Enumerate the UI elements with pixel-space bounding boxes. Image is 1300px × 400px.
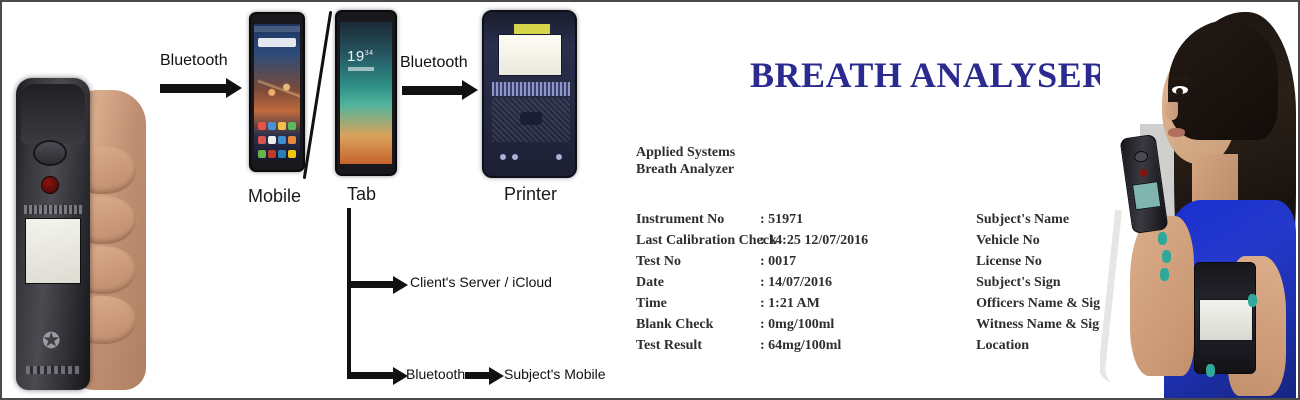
printer-power-led bbox=[556, 154, 562, 160]
field-label: Witness Name & Sign bbox=[976, 314, 1108, 335]
pupil bbox=[1176, 88, 1183, 95]
branch-arrow-bluetooth bbox=[347, 372, 395, 379]
tablet-wallpaper bbox=[340, 22, 392, 164]
field-label: Location bbox=[976, 335, 1108, 356]
report-row: Test Result : 64mg/100ml bbox=[636, 335, 868, 356]
held-printer-paper bbox=[1199, 299, 1253, 341]
held-breathalyzer-power-icon bbox=[1139, 168, 1148, 177]
app-icon bbox=[278, 136, 286, 144]
printer-label-slot bbox=[520, 112, 542, 125]
breathalyzer-device-photo: ✪ bbox=[16, 60, 146, 396]
bluetooth-label-2: Bluetooth bbox=[400, 54, 468, 72]
report-subtitle: Breath Analyzer bbox=[636, 161, 735, 178]
breathalyzer-lcd-screen bbox=[25, 218, 81, 284]
fingernail bbox=[1162, 250, 1171, 263]
user-demo-photo bbox=[1100, 4, 1296, 398]
branch-trunk-line bbox=[347, 208, 351, 376]
breath-analyser-infographic: ✪ Bluetooth bbox=[0, 0, 1300, 400]
field-label: Subject's Name bbox=[976, 209, 1108, 230]
breathalyzer-oval-button bbox=[33, 140, 67, 166]
app-icon bbox=[268, 122, 276, 130]
mobile-search-bar bbox=[258, 38, 296, 47]
field-label: Subject's Sign bbox=[976, 272, 1108, 293]
breathalyzer-body: ✪ bbox=[16, 78, 90, 390]
app-icon bbox=[268, 136, 276, 144]
nose bbox=[1164, 102, 1178, 120]
fingernail bbox=[1160, 268, 1169, 281]
report-row: Test No : 0017 bbox=[636, 251, 868, 272]
app-icon bbox=[288, 150, 296, 158]
app-icon bbox=[258, 136, 266, 144]
app-icon bbox=[258, 150, 266, 158]
report-row: Time : 1:21 AM bbox=[636, 293, 868, 314]
field-value: : 64mg/100ml bbox=[760, 335, 841, 356]
caption-tab: Tab bbox=[347, 184, 376, 205]
fingernail bbox=[1206, 364, 1215, 377]
report-row: Instrument No : 51971 bbox=[636, 209, 868, 230]
report-row: Date : 14/07/2016 bbox=[636, 272, 868, 293]
field-value: : 1:21 AM bbox=[760, 293, 820, 314]
report-company: Applied Systems bbox=[636, 144, 735, 161]
mobile-app-row bbox=[257, 150, 297, 158]
field-value: : 0mg/100ml bbox=[760, 314, 834, 335]
field-label: Date bbox=[636, 272, 760, 293]
report-row: Last Calibration Check : 14:25 12/07/201… bbox=[636, 230, 868, 251]
tablet-device: 1934 bbox=[335, 10, 397, 176]
report-header: Applied Systems Breath Analyzer bbox=[636, 144, 735, 178]
app-icon bbox=[278, 122, 286, 130]
printer-top-strip bbox=[514, 24, 550, 34]
app-icon bbox=[268, 150, 276, 158]
mobile-status-bar bbox=[254, 26, 300, 32]
tablet-clock-minute: 34 bbox=[365, 50, 374, 57]
tablet-clock: 1934 bbox=[347, 48, 373, 65]
lips bbox=[1168, 128, 1185, 137]
branch-label-bluetooth: Bluetooth bbox=[406, 366, 465, 382]
field-label: Test Result bbox=[636, 335, 760, 356]
caption-printer: Printer bbox=[504, 184, 557, 205]
fingernail bbox=[1158, 232, 1167, 245]
field-label: Instrument No bbox=[636, 209, 760, 230]
field-label: Blank Check bbox=[636, 314, 760, 335]
or-divider-slash bbox=[303, 11, 333, 179]
report-row: Blank Check : 0mg/100ml bbox=[636, 314, 868, 335]
mobile-screen bbox=[254, 24, 300, 160]
held-breathalyzer-button bbox=[1133, 150, 1148, 163]
field-label: Officers Name & Sign bbox=[976, 293, 1108, 314]
app-icon bbox=[288, 136, 296, 144]
report-left-column: Instrument No : 51971 Last Calibration C… bbox=[636, 209, 868, 356]
app-icon bbox=[288, 122, 296, 130]
held-printer bbox=[1194, 262, 1256, 374]
bluetooth-label-1: Bluetooth bbox=[160, 52, 228, 70]
branch-label-cloud: Client's Server / iCloud bbox=[410, 274, 552, 290]
field-label: Test No bbox=[636, 251, 760, 272]
breathalyzer-logo-icon: ✪ bbox=[42, 328, 60, 354]
mobile-app-row bbox=[257, 136, 297, 144]
field-label: License No bbox=[976, 251, 1108, 272]
branch-label-subject-mobile: Subject's Mobile bbox=[504, 366, 606, 382]
app-icon bbox=[278, 150, 286, 158]
tablet-screen: 1934 bbox=[340, 22, 392, 164]
power-button-icon bbox=[41, 176, 59, 194]
field-value: : 14/07/2016 bbox=[760, 272, 832, 293]
mobile-app-row bbox=[257, 122, 297, 130]
field-value: : 0017 bbox=[760, 251, 796, 272]
page-title: BREATH ANALYSER bbox=[750, 54, 1109, 96]
arrow-device-to-mobile bbox=[160, 84, 228, 93]
held-breathalyzer-screen bbox=[1132, 181, 1161, 210]
breathalyzer-cable bbox=[1100, 210, 1131, 383]
tablet-clock-hour: 19 bbox=[347, 48, 365, 65]
caption-mobile: Mobile bbox=[248, 186, 301, 207]
field-label: Vehicle No bbox=[976, 230, 1108, 251]
field-label: Last Calibration Check bbox=[636, 230, 760, 251]
fingernail bbox=[1248, 294, 1257, 307]
tablet-date-line bbox=[348, 67, 374, 71]
printer-button bbox=[512, 154, 518, 160]
branch-arrow-cloud bbox=[347, 281, 395, 288]
field-value: : 14:25 12/07/2016 bbox=[760, 230, 868, 251]
printer-button bbox=[500, 154, 506, 160]
breathalyzer-brand-text bbox=[24, 205, 82, 214]
branch-arrow-subject-mobile bbox=[465, 372, 491, 379]
mobile-phone bbox=[249, 12, 305, 172]
portable-printer bbox=[482, 10, 577, 178]
arrow-tab-to-printer bbox=[402, 86, 464, 95]
field-value: : 51971 bbox=[760, 209, 803, 230]
breathalyzer-mouthpiece-area bbox=[21, 84, 85, 144]
breathalyzer-footer-text bbox=[26, 366, 80, 374]
printer-tear-bar bbox=[492, 82, 570, 96]
mobile-wallpaper-bridge bbox=[258, 66, 300, 110]
field-label: Time bbox=[636, 293, 760, 314]
printer-paper bbox=[498, 34, 562, 76]
app-icon bbox=[258, 122, 266, 130]
